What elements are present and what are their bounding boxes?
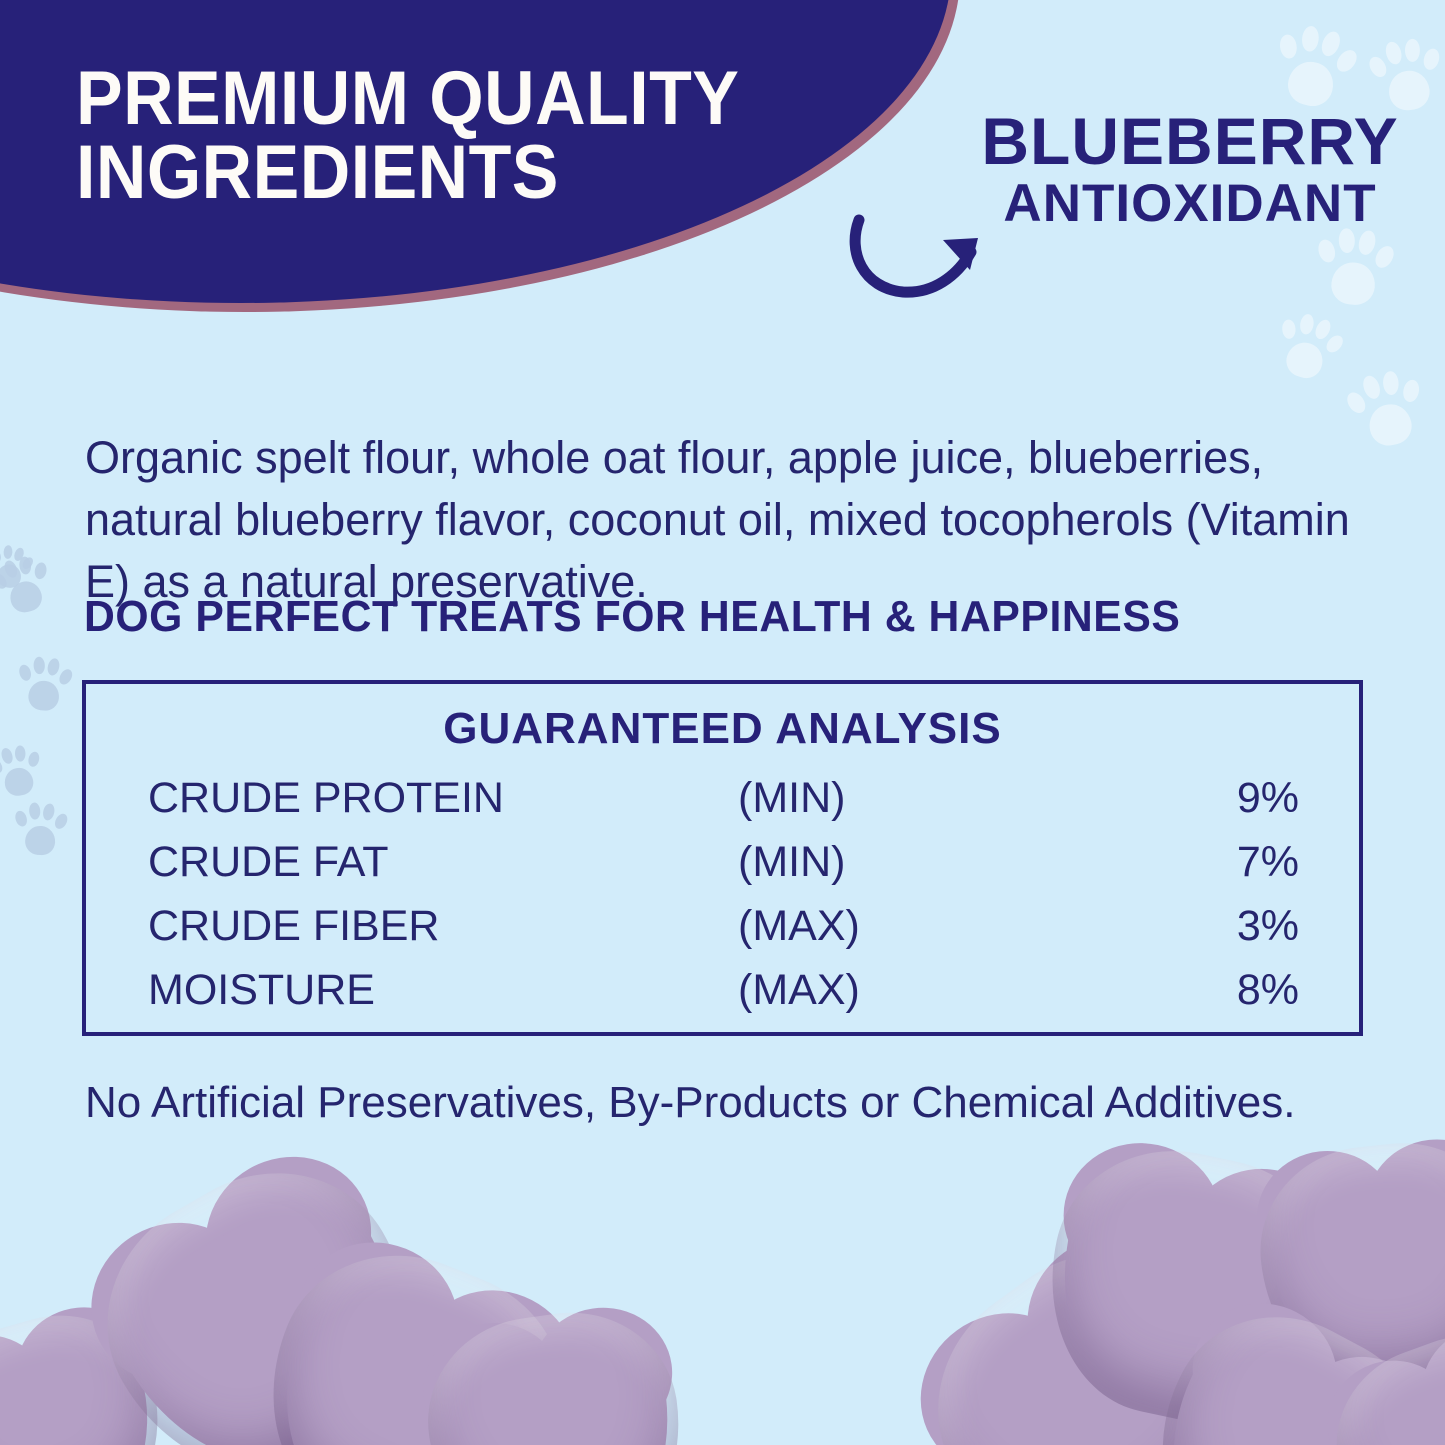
callout-line2: ANTIOXIDANT — [955, 174, 1425, 233]
nutrient-label: MOISTURE — [148, 966, 738, 1015]
heart-treat-icon — [415, 1299, 695, 1445]
guaranteed-analysis-panel: GUARANTEED ANALYSIS CRUDE PROTEIN (MIN) … — [82, 680, 1363, 1036]
heart-treat-icon — [1250, 1133, 1445, 1396]
nutrient-value: 8% — [1158, 966, 1299, 1015]
tagline-heading: DOG PERFECT TREATS FOR HEALTH & HAPPINES… — [84, 592, 1335, 642]
table-row: CRUDE FAT (MIN) 7% — [148, 838, 1299, 902]
nutrient-basis: (MIN) — [738, 838, 1158, 887]
page-title: PREMIUM QUALITY INGREDIENTS — [76, 62, 775, 211]
paw-print-icon — [0, 739, 47, 802]
nutrient-basis: (MAX) — [738, 902, 1158, 951]
analysis-rows: CRUDE PROTEIN (MIN) 9% CRUDE FAT (MIN) 7… — [86, 774, 1359, 1030]
ingredients-text: Organic spelt flour, whole oat flour, ap… — [85, 427, 1375, 613]
pet-treat-label: PREMIUM QUALITY INGREDIENTS BLUEBERRY AN… — [0, 0, 1445, 1445]
banner-title-line1: PREMIUM QUALITY — [76, 56, 739, 141]
banner-title-line2: INGREDIENTS — [76, 136, 775, 210]
heart-treat-icon — [1310, 1308, 1445, 1445]
paw-print-icon — [12, 798, 70, 860]
paw-print-icon — [15, 652, 76, 717]
nutrient-value: 7% — [1158, 838, 1299, 887]
nutrient-basis: (MIN) — [738, 774, 1158, 823]
nutrient-label: CRUDE FIBER — [148, 902, 738, 951]
heart-treat-icon — [62, 1127, 462, 1445]
paw-print-icon — [1267, 304, 1350, 390]
nutrient-value: 3% — [1158, 902, 1299, 951]
blueberry-callout: BLUEBERRY ANTIOXIDANT — [955, 108, 1425, 233]
table-row: MOISTURE (MAX) 8% — [148, 966, 1299, 1030]
nutrient-basis: (MAX) — [738, 966, 1158, 1015]
nutrient-value: 9% — [1158, 774, 1299, 823]
curved-arrow-icon — [845, 212, 995, 302]
nutrient-label: CRUDE FAT — [148, 838, 738, 887]
table-row: CRUDE FIBER (MAX) 3% — [148, 902, 1299, 966]
heart-treat-icon — [1118, 1278, 1445, 1445]
analysis-title: GUARANTEED ANALYSIS — [86, 704, 1359, 754]
paw-print-icon — [1312, 221, 1399, 313]
heart-treat-icon — [1026, 1129, 1357, 1445]
paw-print-icon — [0, 549, 58, 622]
heart-treat-icon — [889, 1203, 1295, 1445]
paw-print-icon — [0, 540, 37, 594]
callout-line1: BLUEBERRY — [955, 108, 1425, 174]
heart-treat-icon — [0, 1292, 184, 1445]
heart-treat-icon — [230, 1218, 599, 1445]
no-additives-note: No Artificial Preservatives, By-Products… — [85, 1078, 1375, 1128]
treat-photo-band — [0, 1145, 1445, 1445]
nutrient-label: CRUDE PROTEIN — [148, 774, 738, 823]
table-row: CRUDE PROTEIN (MIN) 9% — [148, 774, 1299, 838]
